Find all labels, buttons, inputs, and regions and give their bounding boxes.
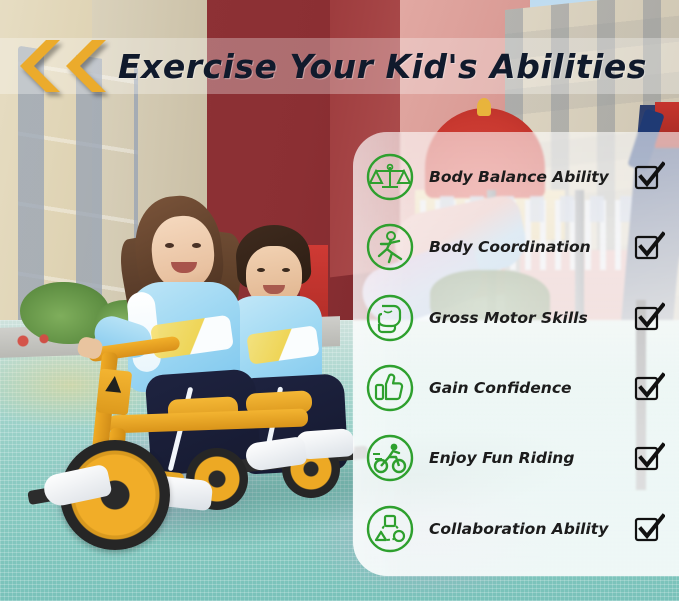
checkbox-checked-icon[interactable] xyxy=(633,302,665,334)
double-chevron-left-icon xyxy=(16,36,112,96)
balance-scale-icon xyxy=(365,152,415,202)
feature-list: Body Balance Ability xyxy=(353,132,679,576)
flexed-bicep-icon xyxy=(365,293,415,343)
checkbox-checked-icon[interactable] xyxy=(633,161,665,193)
feature-label: Gain Confidence xyxy=(429,379,627,397)
collaboration-icon xyxy=(365,504,415,554)
feature-item-gain-confidence[interactable]: Gain Confidence xyxy=(353,353,679,423)
checkbox-checked-icon[interactable] xyxy=(633,442,665,474)
flower-bed xyxy=(8,330,68,352)
feature-item-gross-motor-skills[interactable]: Gross Motor Skills xyxy=(353,283,679,353)
feature-label: Enjoy Fun Riding xyxy=(429,449,627,467)
feature-item-body-coordination[interactable]: Body Coordination xyxy=(353,212,679,282)
feature-label: Body Coordination xyxy=(429,238,627,256)
feature-label: Body Balance Ability xyxy=(429,168,627,186)
playground-finial xyxy=(477,98,491,116)
checkbox-checked-icon[interactable] xyxy=(633,231,665,263)
checkbox-checked-icon[interactable] xyxy=(633,372,665,404)
chevron-left-icon-1 xyxy=(16,38,60,94)
boy-eye-right xyxy=(282,268,290,272)
checkbox-checked-icon[interactable] xyxy=(633,513,665,545)
chevron-left-icon-2 xyxy=(62,38,106,94)
cyclist-icon xyxy=(365,433,415,483)
feature-label: Collaboration Ability xyxy=(429,520,627,538)
page-title: Exercise Your Kid's Abilities xyxy=(118,42,658,92)
feature-item-collaboration-ability[interactable]: Collaboration Ability xyxy=(353,494,679,564)
girl-eye-left xyxy=(165,243,174,248)
trike-logo-icon xyxy=(105,375,123,393)
feature-item-body-balance-ability[interactable]: Body Balance Ability xyxy=(353,142,679,212)
thumbs-up-icon xyxy=(365,363,415,413)
boy-eye-left xyxy=(257,268,265,272)
product-feature-poster: Exercise Your Kid's Abilities Body Balan… xyxy=(0,0,679,601)
running-figure-icon xyxy=(365,222,415,272)
feature-item-enjoy-fun-riding[interactable]: Enjoy Fun Riding xyxy=(353,423,679,493)
girl-eye-right xyxy=(192,243,201,248)
feature-label: Gross Motor Skills xyxy=(429,309,627,327)
